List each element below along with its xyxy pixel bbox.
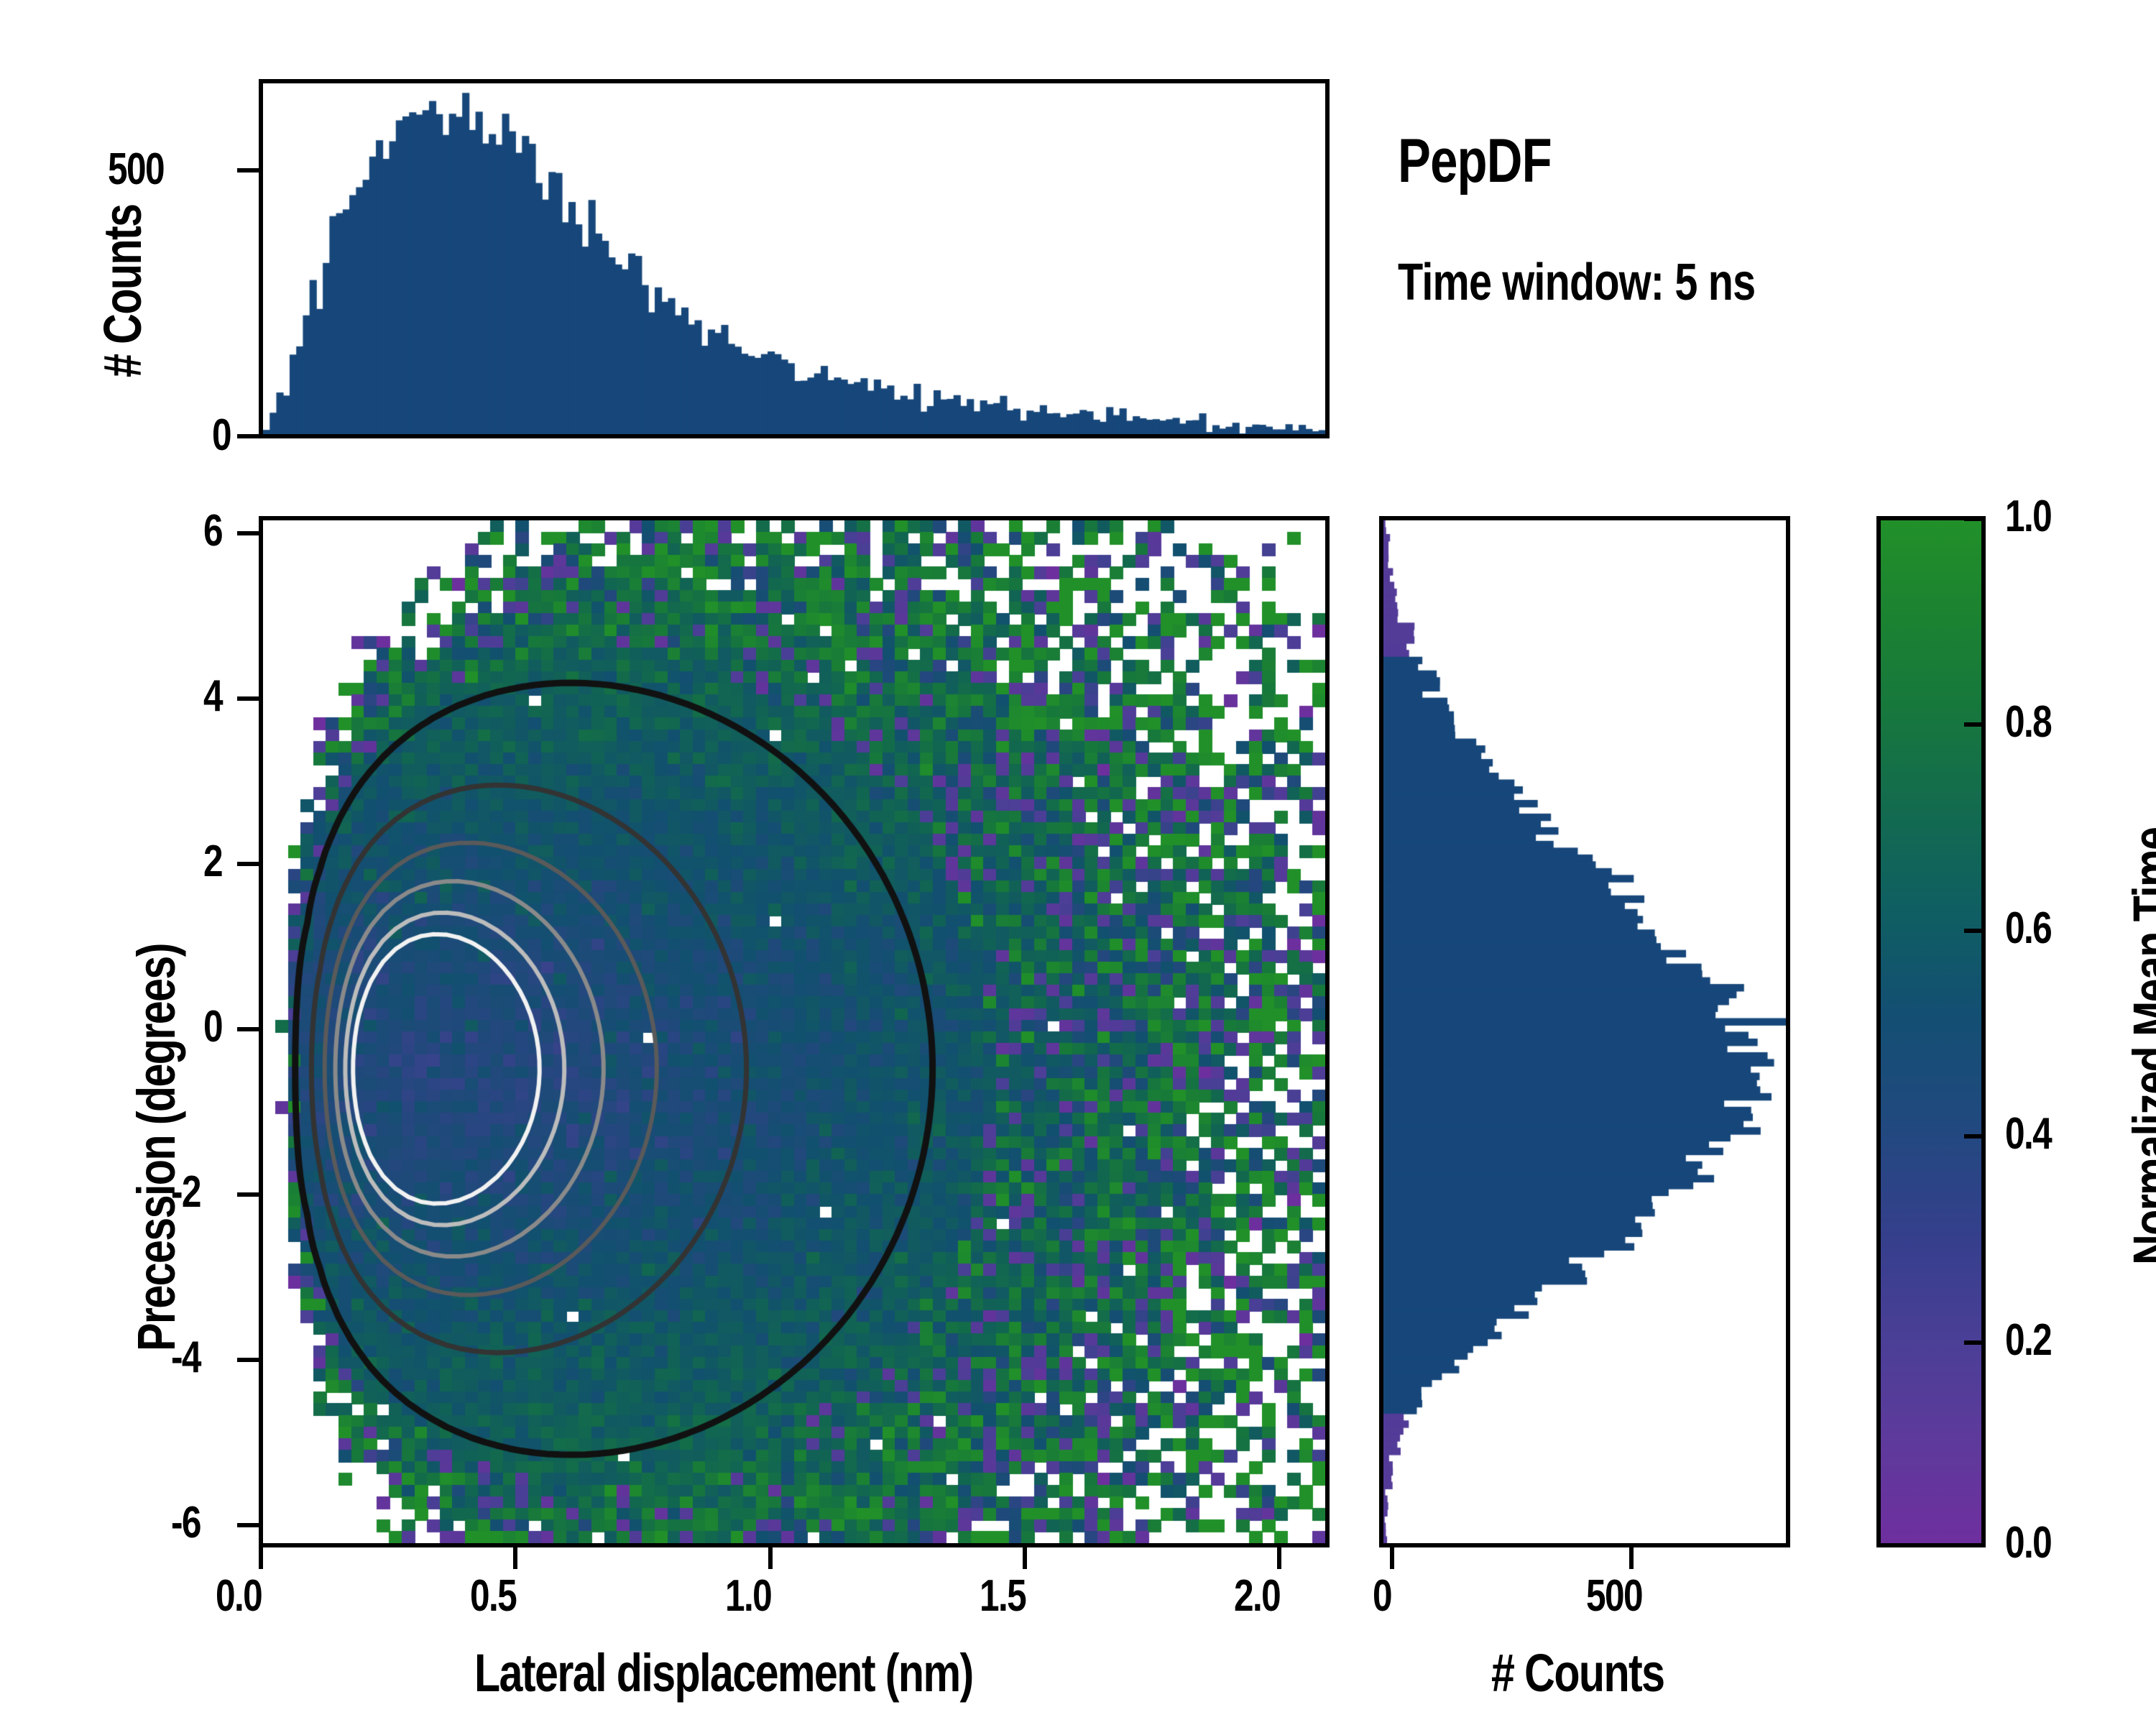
ticklabel-cbar-0.2: 0.2 xyxy=(2005,1315,2063,1366)
top-histogram-canvas xyxy=(263,83,1325,434)
ticklabel-top-0: 0 xyxy=(212,410,235,461)
tick-x-1.5 xyxy=(1023,1547,1027,1569)
tick-right-x-500 xyxy=(1629,1547,1634,1569)
ticklabel-x-2.0: 2.0 xyxy=(1234,1570,1291,1621)
tick-y-m4 xyxy=(237,1358,259,1362)
tick-right-x-0 xyxy=(1390,1547,1394,1569)
tick-y-0 xyxy=(237,1027,259,1031)
tick-y-6 xyxy=(237,531,259,535)
ticklabel-cbar-0.8: 0.8 xyxy=(2005,696,2063,747)
right-histogram-canvas xyxy=(1383,520,1786,1543)
ticklabel-cbar-1.0: 1.0 xyxy=(2005,491,2063,542)
cbar-tick-0.4 xyxy=(1964,1134,1986,1138)
ticklabel-y-4: 4 xyxy=(203,671,226,722)
heatmap-canvas xyxy=(263,520,1325,1543)
ticklabel-x-0.0: 0.0 xyxy=(216,1570,273,1621)
colorbar xyxy=(1876,516,1986,1547)
ticklabel-cbar-0.0: 0.0 xyxy=(2005,1517,2063,1568)
main-x-axis-label: Lateral displacement (nm) xyxy=(474,1642,1097,1703)
colorbar-label: Normalized Mean Time xyxy=(2122,718,2156,1265)
right-histogram-x-axis-label: # Counts xyxy=(1491,1642,1708,1703)
main-y-axis-label: Precession (degrees) xyxy=(126,842,187,1351)
ticklabel-y-m6: -6 xyxy=(171,1497,208,1548)
ticklabel-right-0: 0 xyxy=(1373,1570,1396,1621)
cbar-tick-0.2 xyxy=(1964,1340,1986,1345)
figure-root: 500 0 # Counts 6 4 2 0 -2 -4 -6 Precessi… xyxy=(0,0,2156,1725)
cbar-tick-0.8 xyxy=(1964,722,1986,727)
main-heatmap-panel xyxy=(259,516,1330,1547)
tick-y-m2 xyxy=(237,1192,259,1197)
right-histogram-panel xyxy=(1379,516,1790,1547)
ticklabel-y-2: 2 xyxy=(203,836,226,887)
ticklabel-y-0: 0 xyxy=(203,1001,226,1052)
tick-x-1.0 xyxy=(768,1547,773,1569)
tick-y-4 xyxy=(237,696,259,701)
cbar-tick-0.0 xyxy=(1964,1543,1986,1547)
ticklabel-x-1.5: 1.5 xyxy=(980,1570,1037,1621)
tick-top-y-0 xyxy=(237,434,259,438)
ticklabel-cbar-0.4: 0.4 xyxy=(2005,1108,2063,1159)
ticklabel-cbar-0.6: 0.6 xyxy=(2005,903,2063,954)
ticklabel-x-0.5: 0.5 xyxy=(470,1570,528,1621)
tick-y-m6 xyxy=(237,1523,259,1527)
page-title: PepDF xyxy=(1398,126,1590,197)
top-histogram-panel xyxy=(259,79,1330,438)
tick-x-2.0 xyxy=(1277,1547,1281,1569)
time-window-subtitle: Time window: 5 ns xyxy=(1398,253,1845,312)
top-histogram-y-axis-label: # Counts xyxy=(92,161,153,377)
cbar-tick-1.0 xyxy=(1964,517,1986,521)
tick-x-0.0 xyxy=(259,1547,263,1569)
ticklabel-right-500: 500 xyxy=(1586,1570,1656,1621)
tick-x-0.5 xyxy=(513,1547,517,1569)
cbar-tick-0.6 xyxy=(1964,929,1986,933)
ticklabel-x-1.0: 1.0 xyxy=(725,1570,783,1621)
tick-top-y-500 xyxy=(237,168,259,172)
tick-y-2 xyxy=(237,862,259,866)
ticklabel-y-6: 6 xyxy=(203,505,226,556)
